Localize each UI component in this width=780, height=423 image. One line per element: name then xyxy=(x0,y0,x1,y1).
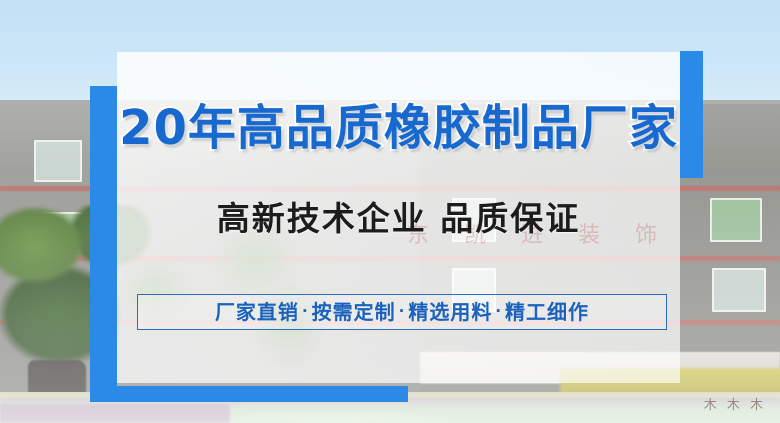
tagline-item: 精选用料 xyxy=(408,300,492,324)
banner-subheadline: 高新技术企业 品质保证 xyxy=(117,202,680,235)
accent-bar-bottom xyxy=(90,386,408,402)
tagline-separator: · xyxy=(299,302,312,320)
tagline-text: 厂家直销·按需定制·精选用料·精工细作 xyxy=(215,302,589,322)
building-window xyxy=(712,268,766,312)
building-window xyxy=(34,140,82,182)
accent-bar-left xyxy=(90,86,117,402)
accent-bar-right xyxy=(680,51,703,178)
tagline-item: 按需定制 xyxy=(312,300,396,324)
tagline-separator: · xyxy=(492,302,505,320)
tagline-item: 精工细作 xyxy=(505,300,589,324)
promotional-banner: 东 凯 进 装 饰 20年高品质橡胶制品厂家 高新技术企业 品质保证 厂家直销·… xyxy=(0,0,780,423)
tagline-box: 厂家直销·按需定制·精选用料·精工细作 xyxy=(137,294,667,330)
tagline-item: 厂家直销 xyxy=(215,300,299,324)
court-stripe xyxy=(0,404,230,423)
tagline-separator: · xyxy=(396,302,409,320)
banner-content: 东 凯 进 装 饰 20年高品质橡胶制品厂家 高新技术企业 品质保证 厂家直销·… xyxy=(117,52,680,383)
banner-headline: 20年高品质橡胶制品厂家 xyxy=(117,104,680,152)
parked-car xyxy=(28,360,86,394)
watermark-text: 木 木 木 xyxy=(704,394,766,413)
building-window xyxy=(710,198,762,242)
